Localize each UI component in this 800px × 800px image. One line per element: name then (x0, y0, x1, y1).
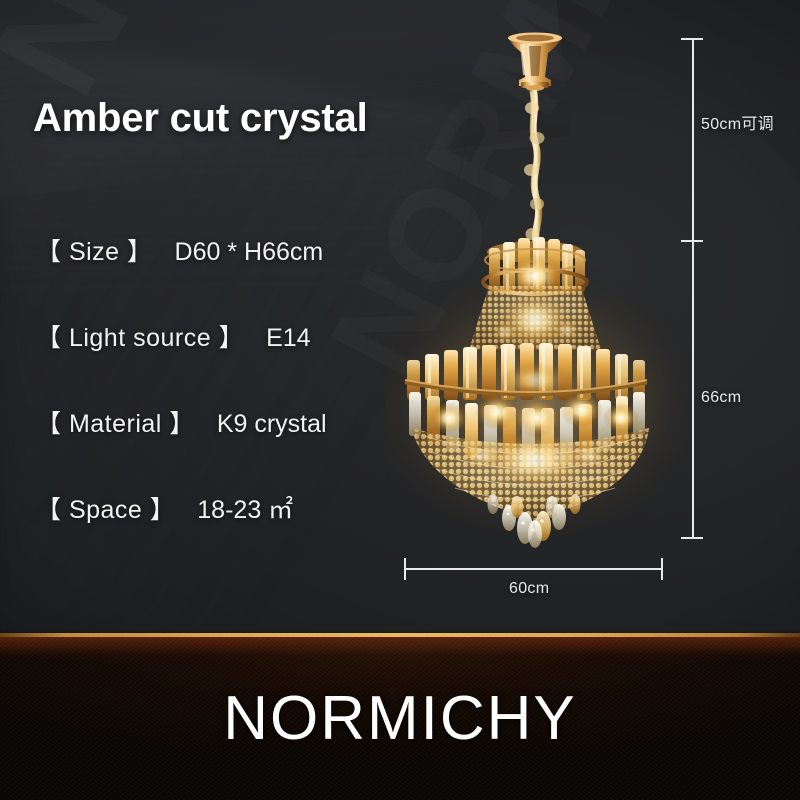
spec-value-space: 18-23 ㎡ (197, 490, 293, 526)
spec-list: 【 Size 】 D60 * H66cm 【 Light source 】 E1… (36, 232, 436, 576)
width-dimension-label: 60cm (509, 580, 549, 598)
beaded-upper-skirt (469, 286, 601, 350)
spec-label-space: 【 Space 】 (36, 490, 175, 526)
brand-footer: NORMICHY (0, 637, 800, 800)
height-dimension-tick-bottom (681, 537, 703, 539)
height-dimension-label: 66cm (701, 389, 741, 407)
spec-value-material: K9 crystal (217, 410, 327, 439)
spec-row-light-source: 【 Light source 】 E14 (36, 318, 436, 404)
drop-dimension-line (692, 38, 694, 241)
spec-label-size: 【 Size 】 (36, 232, 153, 268)
chandelier-product-image (385, 20, 685, 550)
width-dimension-tick-left (404, 558, 406, 580)
crystal-suspension-rod (524, 90, 545, 248)
spec-label-material: 【 Material 】 (36, 404, 195, 440)
spec-label-light-source: 【 Light source 】 (36, 318, 244, 354)
spec-row-space: 【 Space 】 18-23 ㎡ (36, 490, 436, 576)
drop-dimension-tick-top (681, 38, 703, 40)
spec-value-light-source: E14 (266, 324, 310, 353)
brand-name: NORMICHY (0, 637, 800, 800)
spec-row-size: 【 Size 】 D60 * H66cm (36, 232, 436, 318)
drop-dimension-label: 50cm可调 (701, 110, 774, 134)
spec-value-size: D60 * H66cm (175, 238, 324, 267)
height-dimension-line (692, 240, 694, 538)
ceiling-canopy (508, 33, 562, 92)
product-infographic: NORMICHY NORMICHY Amber cut crystal 【 Si… (0, 0, 800, 800)
page-title: Amber cut crystal (33, 96, 368, 141)
spec-row-material: 【 Material 】 K9 crystal (36, 404, 436, 490)
width-dimension-tick-right (661, 558, 663, 580)
width-dimension-line (404, 568, 663, 570)
